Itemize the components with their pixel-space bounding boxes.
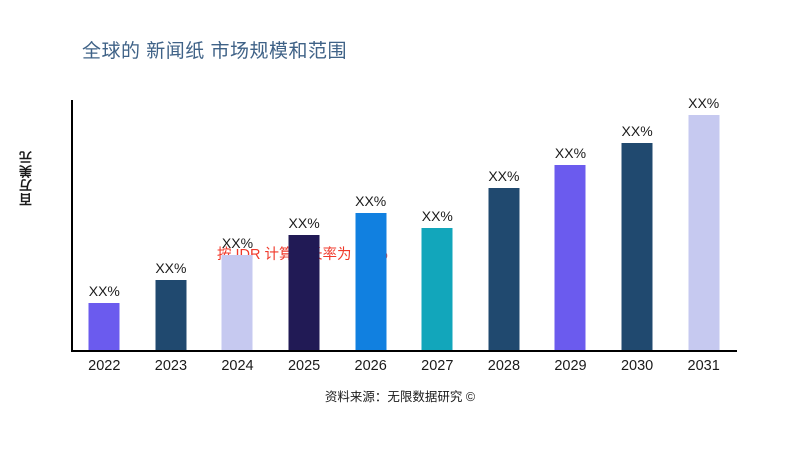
bar-group-2026[interactable]: XX%2026 [337,100,404,352]
bar-group-2025[interactable]: XX%2025 [271,100,338,352]
bar-group-2028[interactable]: XX%2028 [471,100,538,352]
x-tick-2022: 2022 [88,358,120,374]
bar-group-2023[interactable]: XX%2023 [138,100,205,352]
bar-2030[interactable] [622,143,653,351]
x-tick-2029: 2029 [554,358,586,374]
bar-value-label-2026: XX% [355,193,386,209]
bar-2025[interactable] [289,235,320,350]
source-note: 资料来源：无限数据研究 © [0,386,800,405]
bar-value-label-2024: XX% [222,235,253,251]
bar-2029[interactable] [555,165,586,350]
plot-area: 按 IDR 计算增长率为 XX% XX%2022XX%2023XX%2024XX… [71,100,784,352]
x-tick-2030: 2030 [621,358,653,374]
y-axis-title: 百万美元 [17,150,36,206]
x-tick-2028: 2028 [488,358,520,374]
bar-group-2029[interactable]: XX%2029 [537,100,604,352]
chart-page: 全球的 新闻纸 市场规模和范围 百万美元 按 IDR 计算增长率为 XX% XX… [0,0,800,450]
bar-group-2030[interactable]: XX%2030 [604,100,671,352]
bar-2027[interactable] [422,228,453,351]
bar-value-label-2025: XX% [289,215,320,231]
bar-group-2031[interactable]: XX%2031 [670,100,737,352]
bar-2024[interactable] [222,255,253,350]
bar-2028[interactable] [488,188,519,351]
page-title: 全球的 新闻纸 市场规模和范围 [82,36,347,63]
bar-2023[interactable] [155,280,186,350]
bar-group-2022[interactable]: XX%2022 [71,100,138,352]
x-tick-2031: 2031 [688,358,720,374]
bar-2026[interactable] [355,213,386,351]
bar-group-2027[interactable]: XX%2027 [404,100,471,352]
bar-value-label-2030: XX% [622,123,653,139]
bar-2031[interactable] [688,115,719,350]
bar-value-label-2022: XX% [89,283,120,299]
x-tick-2026: 2026 [355,358,387,374]
x-tick-2023: 2023 [155,358,187,374]
x-tick-2027: 2027 [421,358,453,374]
bar-value-label-2023: XX% [155,260,186,276]
bar-value-label-2027: XX% [422,208,453,224]
x-tick-2024: 2024 [221,358,253,374]
bar-value-label-2031: XX% [688,95,719,111]
bar-group-2024[interactable]: XX%2024 [204,100,271,352]
bar-value-label-2028: XX% [488,168,519,184]
bar-value-label-2029: XX% [555,145,586,161]
x-tick-2025: 2025 [288,358,320,374]
bar-2022[interactable] [89,303,120,351]
